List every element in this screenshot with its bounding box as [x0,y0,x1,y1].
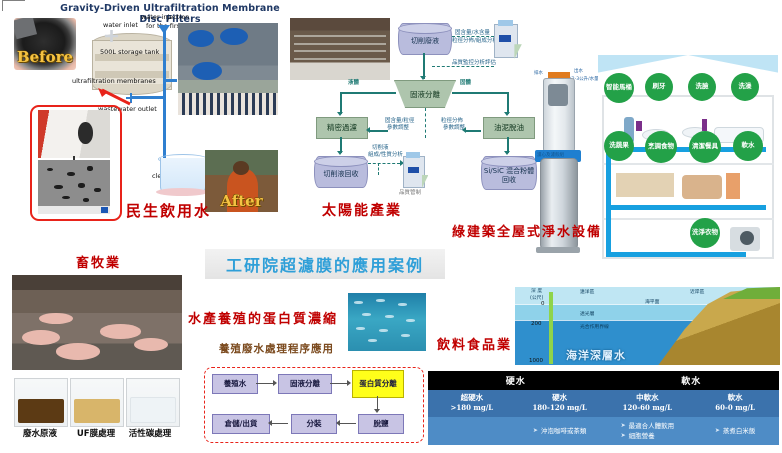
col-name: 硬水 [516,393,604,403]
note-text: 蒸煮白米飯 [723,427,756,436]
label-before: Before [14,48,76,66]
flow-node-culture-water: 養殖水 [212,374,258,394]
category-green-building: 綠建築全屋式淨水設備 [452,224,602,243]
photo-sem-membrane-surface [38,160,110,214]
callout-water-inlet: water inlet [103,21,138,29]
note-text: 沖泡咖啡或茶類 [541,427,587,436]
flowline-right-branch [452,92,508,94]
center-banner: 工研院超濾膜的應用案例 [205,249,445,279]
arrow-down [504,112,510,116]
table-cell-medium-soft: 中軟水120-60 mg/L [604,390,692,417]
arrow-left [366,127,370,133]
node-fine-filtration: 精密過濾 [316,117,368,139]
depth-tick-200: 200 [531,321,542,327]
node-cutting-fluid-recovery: 切削液回收 [314,156,368,188]
sample-label-uf: UF膜處理 [67,427,125,439]
sample-liquid [74,399,120,423]
callout-membranes: ultrafiltration membranes [72,77,156,85]
use-label: 智能馬桶 [606,84,632,91]
node-label: 精密過濾 [327,124,357,133]
use-icon-clean-tableware: 清潔餐具 [689,131,721,163]
node-label: 切削液回收 [324,170,359,178]
arrow-left [462,127,466,133]
photo-person-head [233,161,249,175]
use-icon-shower: 洗澡 [731,73,759,101]
use-label: 刷牙 [653,83,666,90]
bullet-icon: ➤ [621,432,626,440]
sem-pore [87,166,93,171]
pig [134,338,168,351]
category-beverage: 飲料食品業 [437,334,512,353]
annotation-solid-particle: 固含量/粒徑 [385,118,414,125]
arrow-right [273,380,277,386]
annotation-param-adjust-1: 參數調整 [387,125,409,132]
use-icon-wash-vegetables: 洗蔬果 [604,131,634,161]
callout-storage-tank: 500L storage tank [100,48,159,56]
note-lines: 最適合人體飲用 細胞營養 [629,422,675,441]
arrow-down [337,112,343,116]
filter-label-outlet: 出水 [574,68,583,74]
use-label: 洗澡 [739,83,752,90]
faucet-1 [636,121,642,131]
flowline-a3 [377,396,378,410]
flow-node-packaging: 分裝 [291,414,337,434]
pipe-floor3 [606,252,746,257]
node-powder-recovery: Si/SiC 混合粉體回收 [481,156,537,190]
filter-vessel-base [536,247,580,253]
flowline-left-branch [340,92,396,94]
flowline-left-down [340,92,342,114]
arrow-down [337,151,343,155]
analyzer-top-cap [498,20,513,26]
node-label: 脫鹽 [374,420,389,429]
flowline-a2 [330,383,348,384]
arrow-right [347,380,351,386]
photo-after-drinking: After [205,150,278,212]
flow-node-solid-liquid-separation: 固液分離 [278,374,332,394]
node-solid-liquid-separation: 固液分離 [394,80,456,108]
photo-pig-farm [12,275,182,370]
quality-control-instrument [403,156,425,188]
arrow-down [420,76,426,80]
table-notes-soft: ➤ 蒸煮白米飯 [691,417,779,445]
use-icon-laundry: 洗淨衣物 [690,218,720,248]
col-name: 超硬水 [428,393,516,403]
faucet-2 [702,119,707,131]
sem-pore [94,188,100,192]
photo-installed-system [178,23,278,115]
node-label: 蛋白質分離 [359,380,397,389]
node-cutting-waste-liquid: 切削廢液 [398,23,452,55]
use-label: 烹調食物 [648,143,674,150]
col-range: >180 mg/L [451,403,494,412]
category-drinking-water: 民生飲用水 [126,200,211,221]
arrow-down [504,151,510,155]
photo-people-group [178,93,278,115]
sample-beaker-uf [70,378,124,427]
table-notes-medium-soft: ➤ ➤ 最適合人體飲用 細胞營養 [604,417,692,445]
arrow-to-membrane-detail [96,88,132,106]
table-range-row: 超硬水>180 mg/L 硬水180-120 mg/L 中軟水120-60 mg… [428,390,779,417]
depth-axis [549,292,553,364]
blue-drum [188,30,214,47]
sem-scale-bar [38,206,110,214]
table-notes-very-hard [428,417,516,445]
label-photosynthesis-limit: 光合作用界線 [580,323,609,330]
sem-pore [67,172,76,176]
drinking-glass-shadow [156,188,208,196]
photo-before-raw-water: Before [14,18,76,70]
sem-pore [62,196,70,200]
zone-label-open-ocean: 遠洋區 [580,288,594,295]
membrane-roll-core [78,122,92,143]
use-icon-soft-water: 軟水 [733,131,763,161]
col-range: 60-0 mg/L [715,403,755,412]
kitchen-counter [616,173,674,197]
node-label: 切削廢液 [411,37,439,45]
sofa [682,175,722,199]
category-livestock: 畜牧業 [76,252,121,271]
filter-label-drain: 排水 [534,70,543,76]
sem-pore [83,198,89,202]
blue-drum [220,28,248,45]
instrument-screen [408,167,419,174]
sample-beaker-raw [14,378,68,427]
bullet-icon: ➤ [621,422,626,430]
table-notes-row: ➤ 沖泡咖啡或茶類 ➤ ➤ 最適合人體飲用 細胞營養 ➤ 蒸煮白米飯 [428,417,779,445]
washer-door [740,231,754,245]
table-notes-hard: ➤ 沖泡咖啡或茶類 [516,417,604,445]
arrow-left [268,420,272,426]
label-liquid-branch: 液體 [348,80,359,87]
flowline-right-down [507,92,509,114]
pipe-horizontal-tank [163,79,177,82]
flow-node-desalination: 脫鹽 [358,414,404,434]
depth-tick-0: 0 [541,301,545,307]
annotation-particle-size-composition: 粒徑分佈/組成分析 [452,38,498,45]
flowline-a5 [272,423,288,424]
note-text: 細胞營養 [629,432,675,441]
node-sludge-deoiling: 油泥脫油 [483,117,535,139]
pipe-floor2 [606,205,766,210]
dashline-qc-drop [378,163,379,175]
water-hardness-table: 硬水 軟水 超硬水>180 mg/L 硬水180-120 mg/L 中軟水120… [428,371,779,445]
center-banner-text: 工研院超濾膜的應用案例 [226,252,424,276]
dashline-to-qc [368,163,400,164]
photo-before-debris [14,18,37,39]
col-name: 中軟水 [604,393,692,403]
bullet-icon: ➤ [715,427,720,435]
sample-beaker-carbon [126,378,180,427]
group-header-soft-water: 軟水 [604,371,780,390]
use-label: 洗臉 [696,83,709,90]
annotation-cutting-fluid: 切削液 [372,145,389,152]
analyzer-instrument-top [494,24,518,58]
depth-axis-unit: (公尺) [530,294,543,301]
analyzer-screen [499,35,511,42]
pig [22,330,59,345]
sample-label-raw: 廢水原液 [11,427,69,439]
col-range: 120-60 mg/L [623,403,672,412]
category-green-building-line1: 綠建築全屋式淨水設備 [452,224,602,243]
flowline-a4 [340,423,356,424]
sem-pore [54,185,63,189]
label-solid-branch: 固體 [460,80,471,87]
table-group-header-row: 硬水 軟水 [428,371,779,390]
label-quality-control: 品質管制 [399,190,421,197]
use-label: 洗淨衣物 [692,229,718,236]
node-label: Si/SiC 混合粉體回收 [482,167,536,183]
node-label: 固液分離 [410,89,440,100]
note-bullets: ➤ ➤ [621,422,626,439]
flowline-feedback-left [370,130,388,132]
use-icon-brush-teeth: 刷牙 [645,73,673,101]
col-name: 軟水 [691,393,779,403]
table-cell-soft: 軟水60-0 mg/L [691,390,779,417]
depth-axis-label: 深 度 [531,287,542,294]
photo-solar-wafer-tank [290,18,390,80]
use-label: 洗蔬果 [609,142,629,149]
slide-corner-mark [2,0,25,11]
use-icon-smart-toilet: 智能馬桶 [604,73,634,103]
photo-fish-school [348,293,426,351]
table-cell-very-hard: 超硬水>180 mg/L [428,390,516,417]
label-deep-ocean-water: 海洋深層水 [566,347,626,363]
flowline-feedback-right [465,130,481,132]
filter-cartridge-head [548,84,568,106]
house-floor-2 [602,218,774,220]
sem-pore [47,168,53,172]
pig [39,313,73,324]
use-label: 清潔餐具 [692,143,718,150]
sem-pore [78,183,85,188]
instrument-top-cap [406,152,420,158]
group-header-hard-water: 硬水 [428,371,604,390]
arrow-down [374,409,380,413]
subtitle-aquaculture: 養殖廢水處理程序應用 [219,341,334,356]
node-label: 養殖水 [224,380,247,389]
annotation-particle-dist: 粒徑分佈 [441,118,463,125]
table-cell-hard: 硬水180-120 mg/L [516,390,604,417]
pipe-riser [606,147,611,257]
title-aquaculture: 水產養殖的蛋白質濃縮 [188,308,338,327]
analyzer-shadow [514,44,521,59]
sample-liquid [18,399,64,423]
blue-drum [192,62,222,80]
arrow-left [336,420,340,426]
bullet-icon: ➤ [533,427,538,435]
sample-label-carbon: 活性碳處理 [121,427,179,439]
label-after: After [205,192,278,210]
annotation-composition-analysis: 組成/性質分析 [368,152,403,159]
label-photic-layer: 透光層 [580,310,594,317]
node-label: 分裝 [307,420,322,429]
callout-water-injection: water injection [141,13,189,21]
use-icon-cooking: 烹調食物 [645,131,677,163]
use-icon-wash-face: 洗臉 [688,73,716,101]
col-range: 180-120 mg/L [532,403,586,412]
flow-node-storage-shipping: 倉儲/出貨 [212,414,270,434]
sample-liquid [130,397,176,423]
photo-membrane-roll [38,110,110,158]
category-solar: 太陽能產業 [322,200,402,220]
depth-tick-1000: 1000 [529,358,543,364]
node-label: 固液分離 [290,380,320,389]
zone-label-coastal: 近岸區 [690,288,704,295]
pig [56,343,100,359]
pig [100,324,141,338]
node-label: 倉儲/出貨 [225,420,258,429]
use-label: 軟水 [742,142,755,149]
house-floor-1 [602,163,774,165]
label-sea-level: 海平面 [645,298,659,305]
person-standing [726,173,740,199]
flow-node-protein-separation: 蛋白質分離 [352,370,404,398]
dashline-quality-monitor [432,66,494,67]
flowline-a1 [256,383,274,384]
note-text: 最適合人體飲用 [629,422,675,431]
dashline-to-analyzer [452,36,494,37]
node-label: 油泥脫油 [494,124,524,133]
instrument-shadow [422,175,429,189]
dashline-vertical-qc [425,108,426,138]
